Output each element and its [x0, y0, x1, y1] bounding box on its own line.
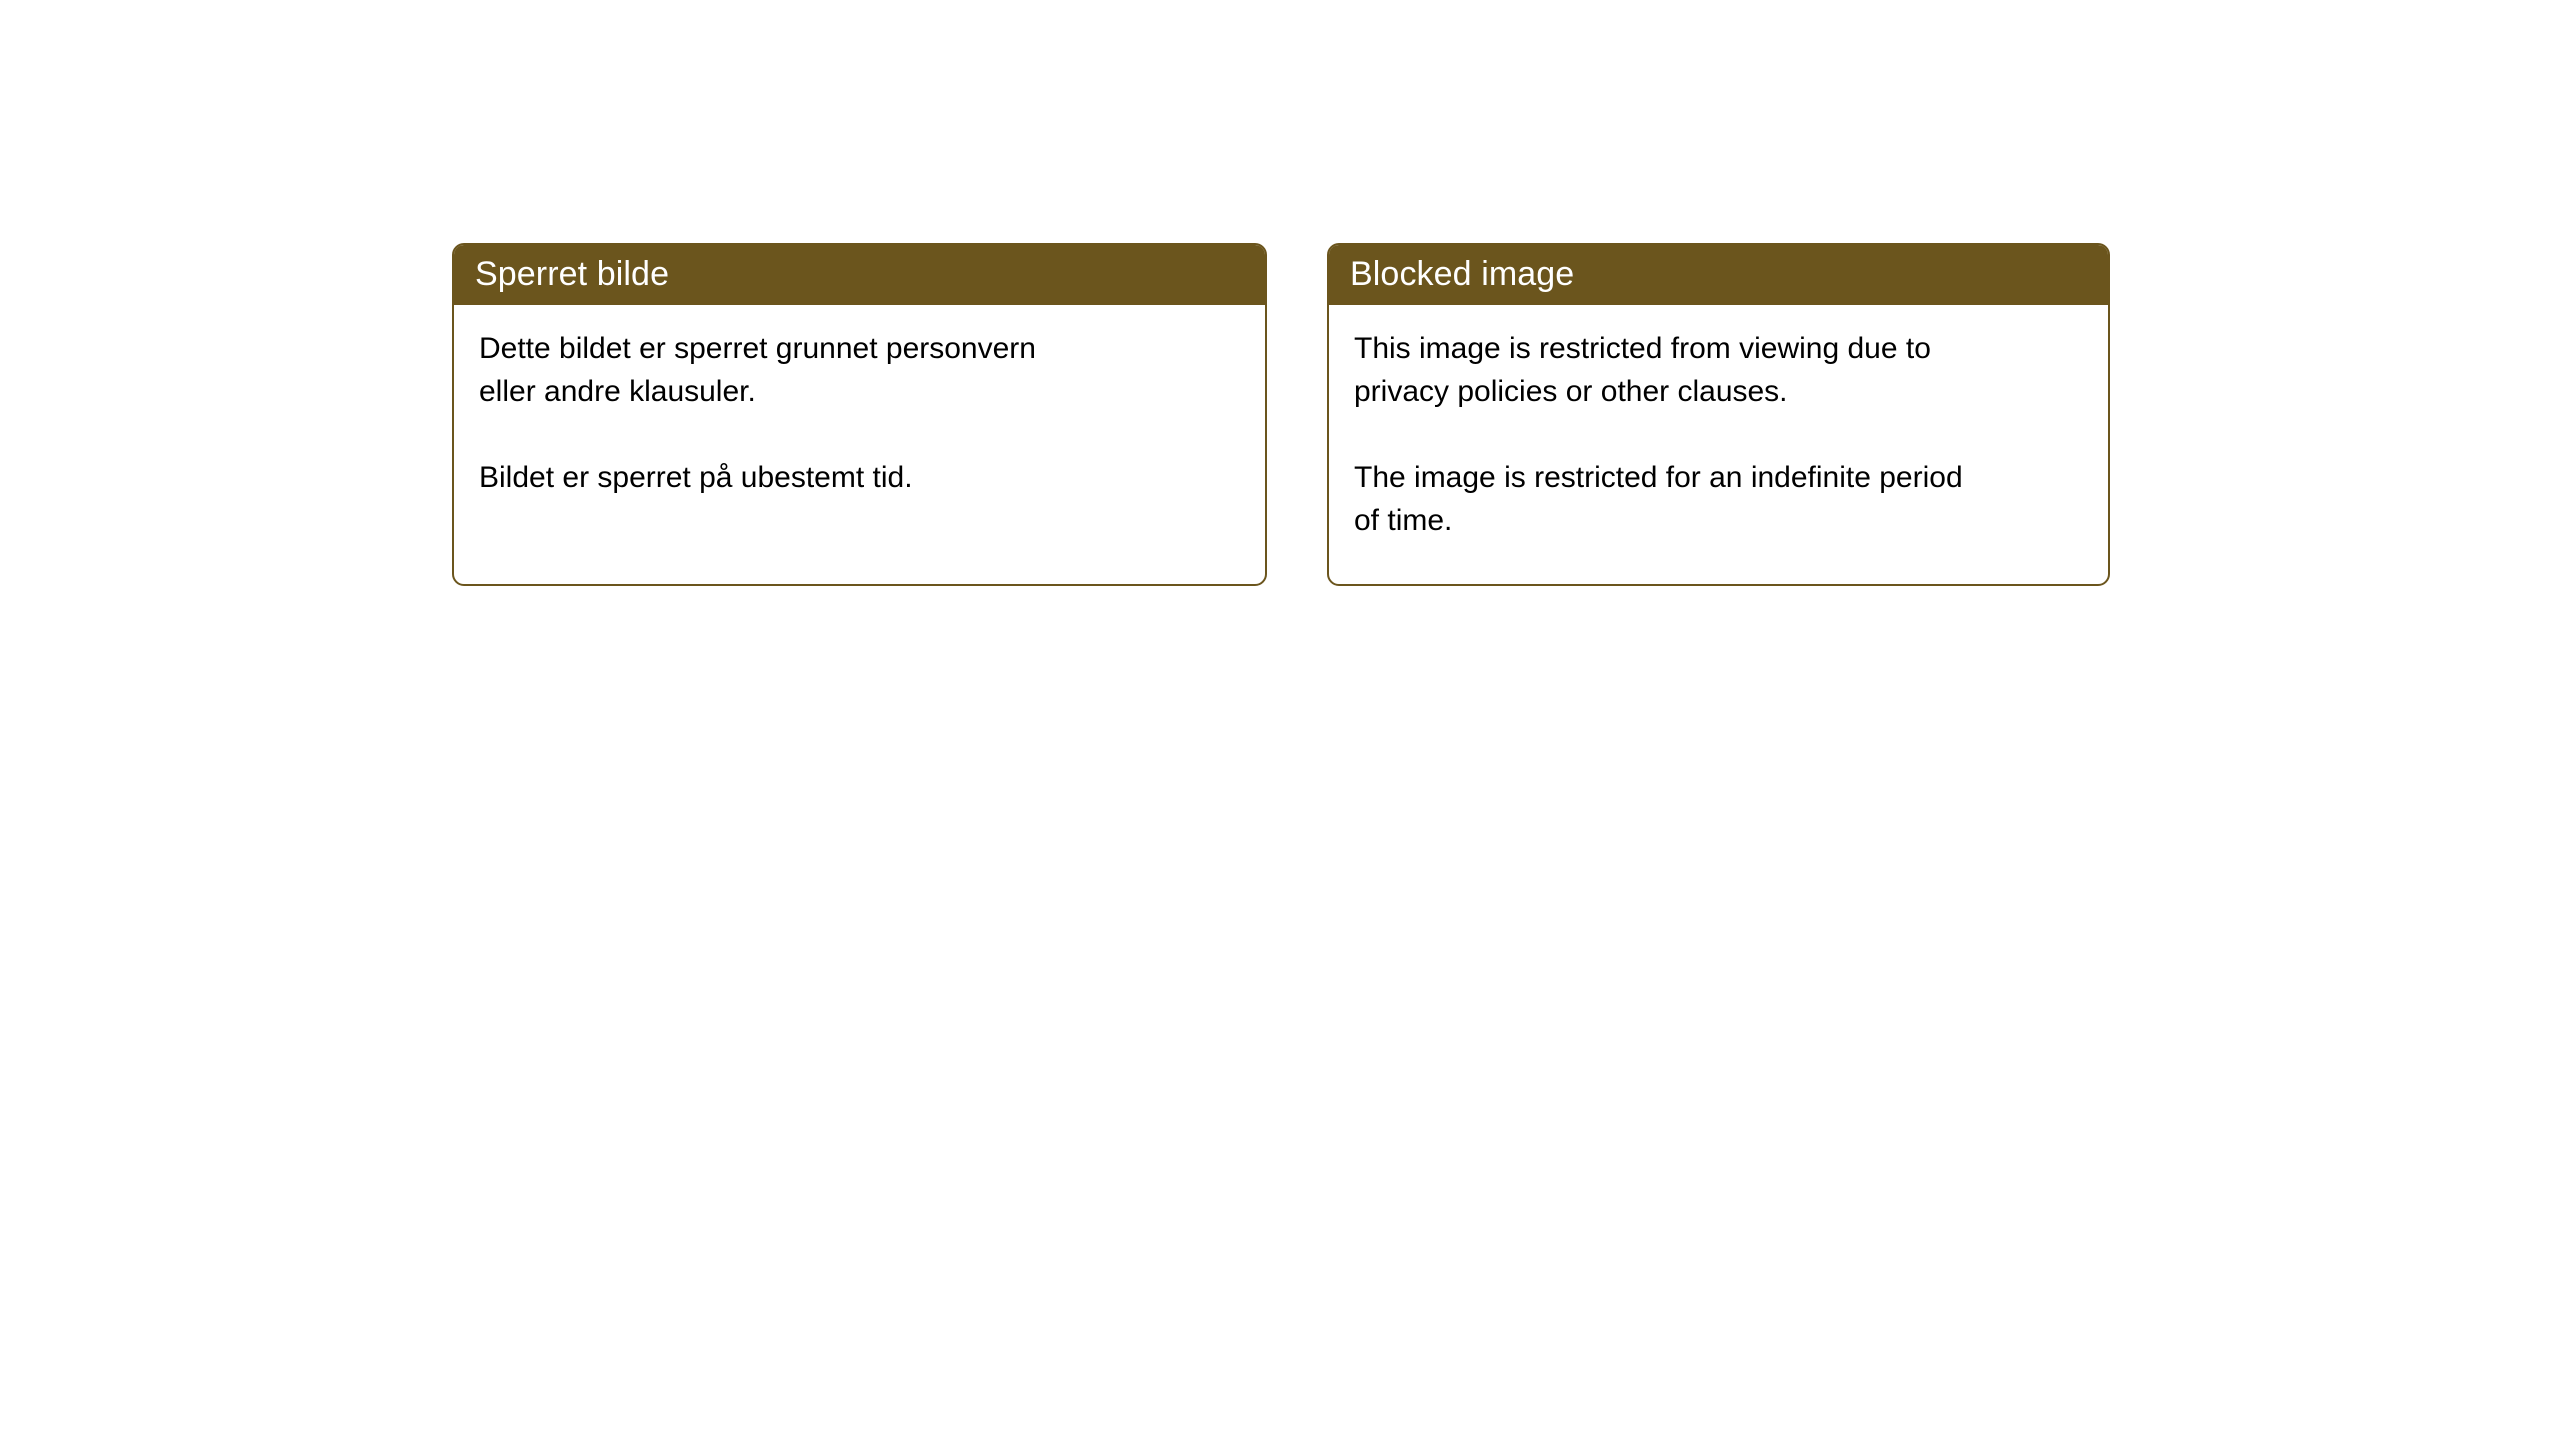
blocked-image-notice-card-english: Blocked image This image is restricted f…	[1327, 243, 2110, 586]
card-paragraph-reason-english: This image is restricted from viewing du…	[1354, 327, 2084, 413]
card-header-english: Blocked image	[1327, 243, 2110, 305]
card-paragraph-duration-english: The image is restricted for an indefinit…	[1354, 456, 2084, 542]
card-header-norwegian: Sperret bilde	[452, 243, 1267, 305]
card-body-english: This image is restricted from viewing du…	[1329, 305, 2108, 542]
card-title-english: Blocked image	[1350, 255, 1574, 293]
card-body-norwegian: Dette bildet er sperret grunnet personve…	[454, 305, 1265, 499]
card-title-norwegian: Sperret bilde	[475, 255, 669, 293]
page-canvas: Sperret bilde Dette bildet er sperret gr…	[0, 0, 2560, 1440]
blocked-image-notice-card-norwegian: Sperret bilde Dette bildet er sperret gr…	[452, 243, 1267, 586]
card-paragraph-duration-norwegian: Bildet er sperret på ubestemt tid.	[479, 456, 1241, 499]
card-paragraph-reason-norwegian: Dette bildet er sperret grunnet personve…	[479, 327, 1241, 413]
